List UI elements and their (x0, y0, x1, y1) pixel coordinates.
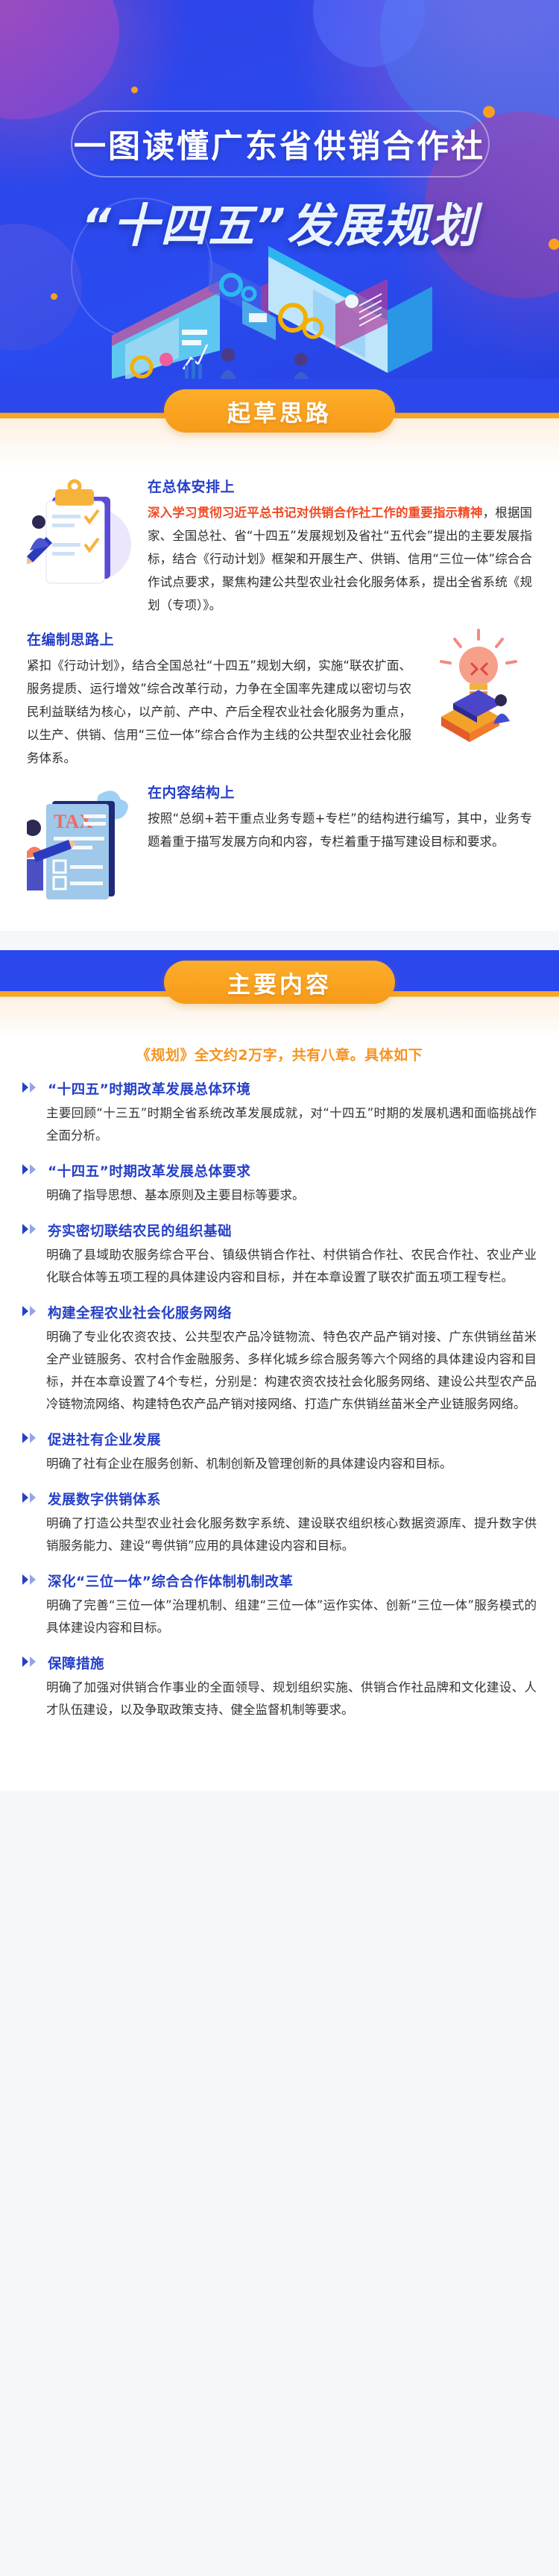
list-item-desc: 明确了县域助农服务综合平台、镇级供销合作社、村供销合作社、农民合作社、农业产业化… (22, 1244, 537, 1289)
double-chevron-right-icon (22, 1656, 40, 1671)
person-figure (493, 694, 510, 724)
list-item: “十四五”时期改革发展总体环境 主要回顾“十三五”时期全省系统改革发展成就，对“… (22, 1079, 537, 1147)
double-chevron-right-icon (22, 1492, 40, 1507)
drafting-block-content-structure: TAX (16, 774, 543, 905)
list-item-title: 深化“三位一体”综合合作体制机制改革 (48, 1571, 293, 1591)
person-figure-left (220, 348, 236, 379)
decorative-dot-orange-1 (131, 87, 138, 93)
list-item-desc: 明确了完善“三位一体”治理机制、组建“三位一体”运作实体、创新“三位一体”服务模… (22, 1595, 537, 1639)
list-item-header: 构建全程农业社会化服务网络 (22, 1303, 537, 1322)
main-content-lead: 《规划》全文约2万字，共有八章。具体如下 (0, 1044, 559, 1064)
hero-title-line1: 一图读懂广东省供销合作社 (0, 121, 559, 167)
list-item-title: 保障措施 (48, 1653, 104, 1673)
double-chevron-right-icon (22, 1433, 40, 1447)
banner-main-content: 主要内容 (164, 961, 395, 1004)
lightbulb-book-svg (420, 629, 532, 752)
drafting-block-2-heading: 在编制思路上 (27, 629, 411, 649)
clipboard-checklist-svg (27, 476, 139, 599)
drafting-block-2-text: 紧扣《行动计划》，结合全国总社“十四五”规划大纲，实施“联农扩面、服务提质、运行… (27, 654, 411, 770)
list-item-desc: 明确了社有企业在服务创新、机制创新及管理创新的具体建设内容和目标。 (22, 1453, 537, 1475)
double-chevron-right-icon (22, 1164, 40, 1178)
section-main-content: 主要内容 《规划》全文约2万字，共有八章。具体如下 “十四五”时期改革发展总体环… (0, 950, 559, 1780)
drafting-block-1-highlight: 深入学习贯彻习近平总书记对供销合作社工作的重要指示精神 (148, 506, 483, 520)
list-item-desc: 明确了加强对供销合作事业的全面领导、规划组织实施、供销合作社品牌和文化建设、人才… (22, 1677, 537, 1721)
list-item-header: 发展数字供销体系 (22, 1489, 537, 1509)
list-item: 发展数字供销体系 明确了打造公共型农业社会化服务数字系统、建设联农组织核心数据资… (22, 1489, 537, 1557)
decorative-dot-orange-3 (51, 293, 57, 300)
drafting-block-overall-arrangement: 在总体安排上 深入学习贯彻习近平总书记对供销合作社工作的重要指示精神，根据国家、… (16, 468, 543, 621)
list-item-header: “十四五”时期改革发展总体要求 (22, 1161, 537, 1181)
list-item: 保障措施 明确了加强对供销合作事业的全面领导、规划组织实施、供销合作社品牌和文化… (22, 1653, 537, 1721)
banner-main-label: 主要内容 (227, 966, 332, 999)
double-chevron-right-icon (22, 1306, 40, 1320)
drafting-block-2-body: 在编制思路上 紧扣《行动计划》，结合全国总社“十四五”规划大纲，实施“联农扩面、… (27, 629, 411, 770)
drafting-block-1-heading: 在总体安排上 (148, 476, 532, 496)
drafting-block-compilation-approach: 在编制思路上 紧扣《行动计划》，结合全国总社“十四五”规划大纲，实施“联农扩面、… (16, 621, 543, 774)
drafting-block-1-text: 深入学习贯彻习近平总书记对供销合作社工作的重要指示精神，根据国家、全国总社、省“… (148, 501, 532, 617)
person-figure-right (293, 353, 309, 379)
drafting-block-3-body: 在内容结构上 按照“总纲+若干重点业务专题+专栏”的结构进行编写，其中，业务专题… (148, 782, 532, 901)
page-bottom-spacer (0, 1780, 559, 1791)
decorative-blob-purple-left (0, 0, 119, 119)
decorative-dot-orange-2 (483, 106, 495, 118)
list-item-desc: 明确了专业化农资农技、公共型农产品冷链物流、特色农产品产销对接、广东供销丝苗米全… (22, 1326, 537, 1416)
list-item-header: 保障措施 (22, 1653, 537, 1673)
list-item-title: 发展数字供销体系 (48, 1489, 161, 1509)
section-main-banner-area: 主要内容 (0, 950, 559, 1040)
section-drafting-banner-area: 起草思路 (0, 379, 559, 468)
list-item-desc: 明确了打造公共型农业社会化服务数字系统、建设联农组织核心数据资源库、提升数字供销… (22, 1512, 537, 1557)
list-item-header: “十四五”时期改革发展总体环境 (22, 1079, 537, 1099)
hero-banner: 一图读懂广东省供销合作社 “十四五”发展规划 (0, 0, 559, 379)
hero-title-line2: “十四五”发展规划 (0, 188, 559, 255)
clipboard-checklist-icon (27, 476, 139, 595)
isometric-svg (89, 246, 477, 379)
drafting-block-1-body: 在总体安排上 深入学习贯彻习近平总书记对供销合作社工作的重要指示精神，根据国家、… (148, 476, 532, 617)
drafting-block-1-rest: ，根据国家、全国总社、省“十四五”发展规划及省社“五代会”提出的主要发展指标，结… (148, 506, 532, 612)
list-item-header: 促进社有企业发展 (22, 1430, 537, 1449)
banner-drafting-approach: 起草思路 (164, 389, 395, 433)
list-item-title: “十四五”时期改革发展总体环境 (48, 1079, 250, 1099)
main-content-list: “十四五”时期改革发展总体环境 主要回顾“十三五”时期全省系统改革发展成就，对“… (0, 1079, 559, 1721)
svg-text:TAX: TAX (54, 811, 93, 832)
isometric-dashboard-illustration (89, 246, 477, 379)
list-item-title: 促进社有企业发展 (48, 1430, 161, 1449)
list-item: “十四五”时期改革发展总体要求 明确了指导思想、基本原则及主要目标等要求。 (22, 1161, 537, 1207)
list-item-title: 构建全程农业社会化服务网络 (48, 1303, 232, 1322)
double-chevron-right-icon (22, 1574, 40, 1589)
infographic-page: 一图读懂广东省供销合作社 “十四五”发展规划 (0, 0, 559, 1791)
section-drafting-approach: 起草思路 (0, 379, 559, 931)
drafting-block-3-text: 按照“总纲+若干重点业务专题+专栏”的结构进行编写，其中，业务专题着重于描写发展… (148, 807, 532, 853)
list-item: 促进社有企业发展 明确了社有企业在服务创新、机制创新及管理创新的具体建设内容和目… (22, 1430, 537, 1475)
drafting-block-3-heading: 在内容结构上 (148, 782, 532, 802)
list-item-title: “十四五”时期改革发展总体要求 (48, 1161, 250, 1181)
tax-form-svg: TAX (27, 782, 139, 905)
list-item: 深化“三位一体”综合合作体制机制改革 明确了完善“三位一体”治理机制、组建“三位… (22, 1571, 537, 1639)
list-item-header: 深化“三位一体”综合合作体制机制改革 (22, 1571, 537, 1591)
tax-document-icon: TAX (27, 782, 139, 901)
list-item-title: 夯实密切联结农民的组织基础 (48, 1221, 232, 1240)
book-icon (441, 690, 502, 742)
drafting-card: 在总体安排上 深入学习贯彻习近平总书记对供销合作社工作的重要指示精神，根据国家、… (16, 468, 543, 905)
banner-drafting-label: 起草思路 (227, 395, 332, 428)
double-chevron-right-icon (22, 1082, 40, 1096)
double-chevron-right-icon (22, 1224, 40, 1238)
list-item-header: 夯实密切联结农民的组织基础 (22, 1221, 537, 1240)
list-item-desc: 主要回顾“十三五”时期全省系统改革发展成就，对“十四五”时期的发展机遇和面临挑战… (22, 1102, 537, 1147)
list-item-desc: 明确了指导思想、基本原则及主要目标等要求。 (22, 1184, 537, 1207)
list-item: 夯实密切联结农民的组织基础 明确了县域助农服务综合平台、镇级供销合作社、村供销合… (22, 1221, 537, 1289)
list-item: 构建全程农业社会化服务网络 明确了专业化农资农技、公共型农产品冷链物流、特色农产… (22, 1303, 537, 1416)
lightbulb-idea-icon (420, 629, 532, 748)
